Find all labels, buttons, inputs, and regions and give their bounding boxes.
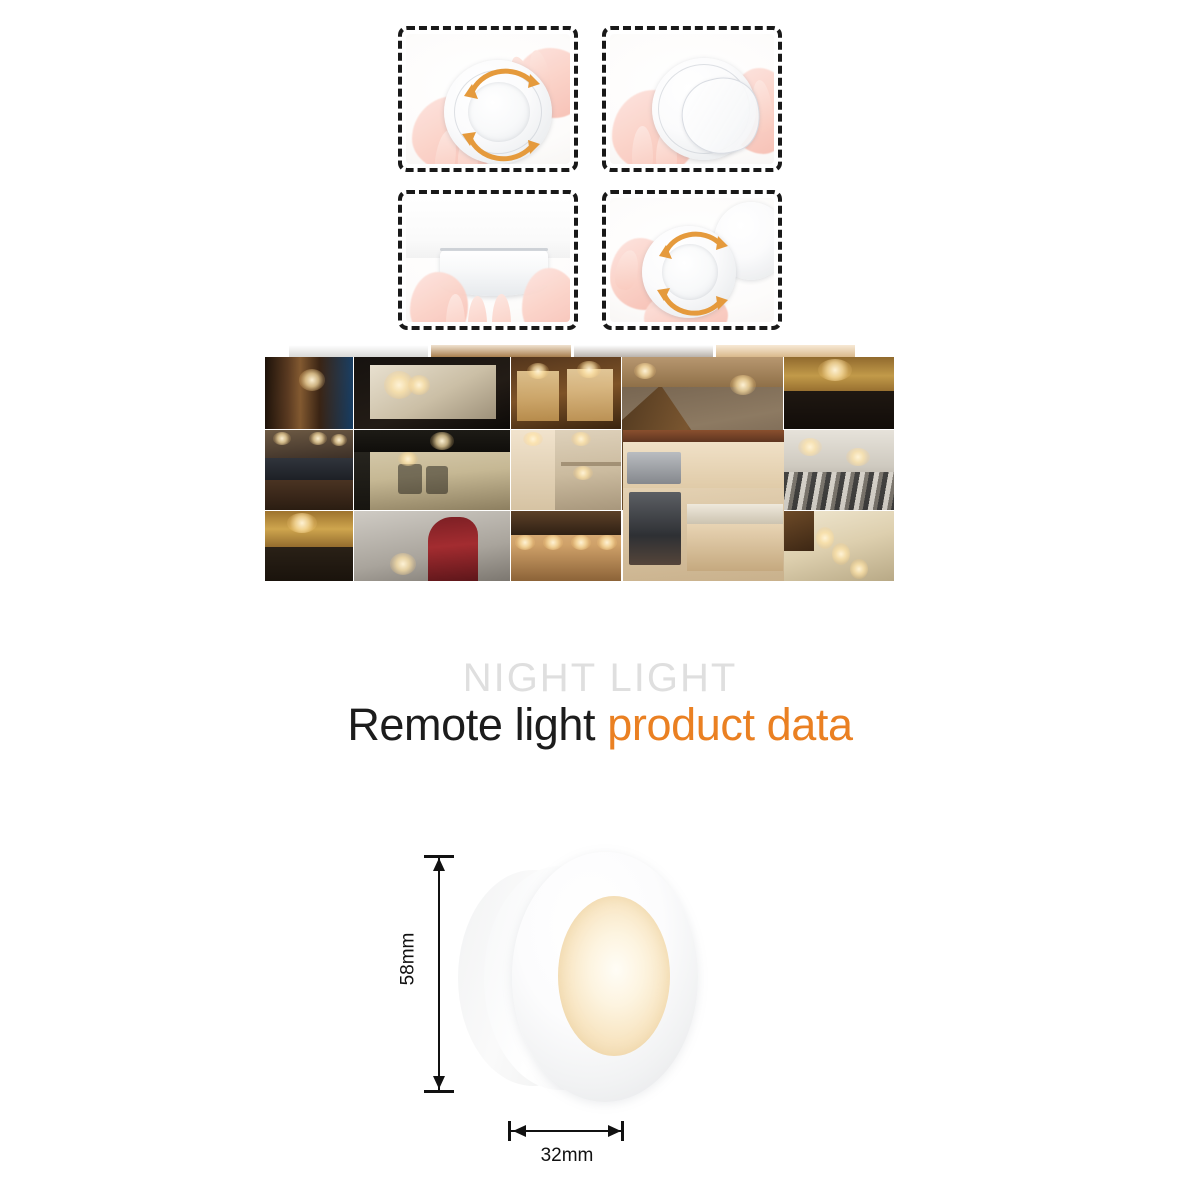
page-title-accent: product data xyxy=(607,699,852,750)
photo-wine-glasses-bottom xyxy=(265,511,353,581)
product-lens xyxy=(558,896,670,1056)
product-disc-front xyxy=(512,852,698,1102)
photo-bathroom-stairs xyxy=(784,511,894,581)
height-cap-bottom xyxy=(424,1090,454,1093)
step-3-photo xyxy=(406,198,570,322)
finger-icon xyxy=(468,296,487,322)
photo-warm-display-shelves xyxy=(511,357,621,429)
photo-counter-backsplash xyxy=(784,430,894,510)
installation-steps-grid xyxy=(398,26,782,332)
watermark-text: NIGHT LIGHT xyxy=(0,655,1200,701)
strip-segment xyxy=(716,345,855,357)
rotate-arrow-bottom-icon xyxy=(644,222,740,322)
product-infographic-page: NIGHT LIGHT Remote light product data 58… xyxy=(0,0,1200,1200)
install-step-panel-2 xyxy=(602,26,782,172)
height-arrow-down-icon xyxy=(433,1076,445,1089)
photo-cabinet-interior xyxy=(265,357,353,429)
width-arrow-left-icon xyxy=(513,1125,526,1137)
page-title-primary: Remote light xyxy=(347,699,607,750)
puck-seam-icon xyxy=(440,248,548,251)
step-4-photo xyxy=(610,198,774,322)
width-label: 32mm xyxy=(510,1145,624,1167)
step-1-photo xyxy=(406,34,570,164)
height-arrow-up-icon xyxy=(433,858,445,871)
width-cap-right xyxy=(621,1121,624,1141)
photo-closet-shelves xyxy=(511,430,621,510)
strip-segment xyxy=(431,345,570,357)
collage-grid xyxy=(265,357,899,581)
install-step-panel-4 xyxy=(602,190,782,330)
step-2-photo xyxy=(610,34,774,164)
photo-tv-cabinet xyxy=(354,357,510,429)
collage-top-strip xyxy=(289,345,855,357)
title-block: NIGHT LIGHT Remote light product data xyxy=(0,655,1200,753)
width-dimension-line xyxy=(510,1130,624,1132)
rotate-arrow-bottom-icon xyxy=(446,56,556,164)
strip-segment xyxy=(574,345,713,357)
product-dimension-diagram: 58mm 32mm xyxy=(390,840,750,1190)
width-arrow-right-icon xyxy=(608,1125,621,1137)
install-step-panel-1 xyxy=(398,26,578,172)
product-image xyxy=(458,852,698,1102)
finger-icon xyxy=(492,294,511,322)
install-step-panel-3 xyxy=(398,190,578,330)
strip-segment xyxy=(289,345,428,357)
page-title: Remote light product data xyxy=(0,697,1200,753)
application-collage xyxy=(265,345,899,581)
height-dimension-line xyxy=(438,856,440,1092)
photo-canister-counter xyxy=(354,430,510,510)
photo-wine-glasses-top xyxy=(784,357,894,429)
height-label: 58mm xyxy=(397,933,419,986)
photo-kitchen-cabinets xyxy=(623,430,784,581)
photo-kitchen-counter xyxy=(265,430,353,510)
photo-under-cabinet-row xyxy=(511,511,621,581)
photo-closet-coat xyxy=(354,511,510,581)
